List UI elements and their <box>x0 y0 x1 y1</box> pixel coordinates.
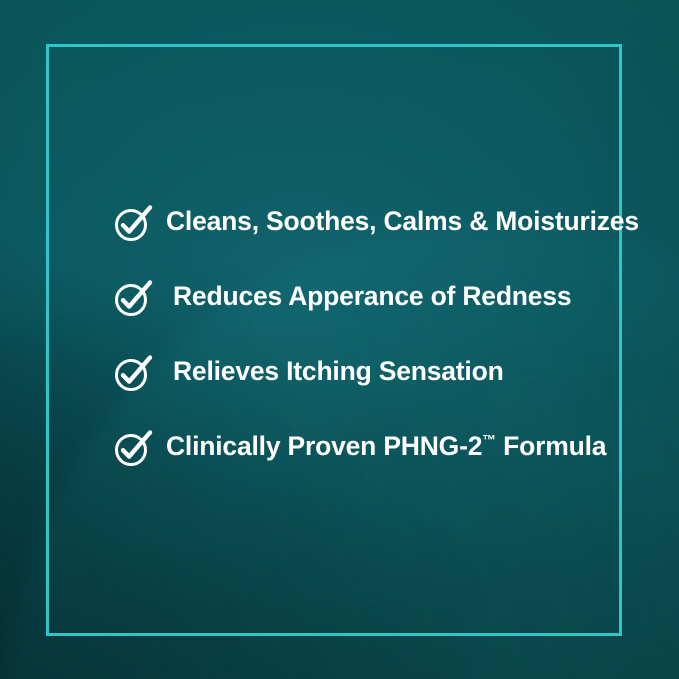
check-circle-icon <box>112 425 156 469</box>
benefit-label: Relieves Itching Sensation <box>166 358 504 385</box>
list-item: Cleans, Soothes, Calms & Moisturizes <box>112 196 612 247</box>
trademark-symbol: ™ <box>482 433 496 448</box>
list-item: Reduces Apperance of Redness <box>112 271 612 322</box>
benefit-label-suffix: Formula <box>496 431 606 461</box>
check-circle-icon <box>112 200 156 244</box>
benefits-list: Cleans, Soothes, Calms & Moisturizes Red… <box>112 196 612 472</box>
benefit-label-main: Clinically Proven PHNG-2 <box>166 431 482 461</box>
check-circle-icon <box>112 275 156 319</box>
benefit-label: Cleans, Soothes, Calms & Moisturizes <box>166 208 639 235</box>
benefit-label: Reduces Apperance of Redness <box>166 283 571 310</box>
product-benefits-panel: Cleans, Soothes, Calms & Moisturizes Red… <box>0 0 679 679</box>
list-item: Relieves Itching Sensation <box>112 346 612 397</box>
list-item: Clinically Proven PHNG-2™ Formula <box>112 421 612 472</box>
check-circle-icon <box>112 350 156 394</box>
benefit-label: Clinically Proven PHNG-2™ Formula <box>166 433 606 460</box>
